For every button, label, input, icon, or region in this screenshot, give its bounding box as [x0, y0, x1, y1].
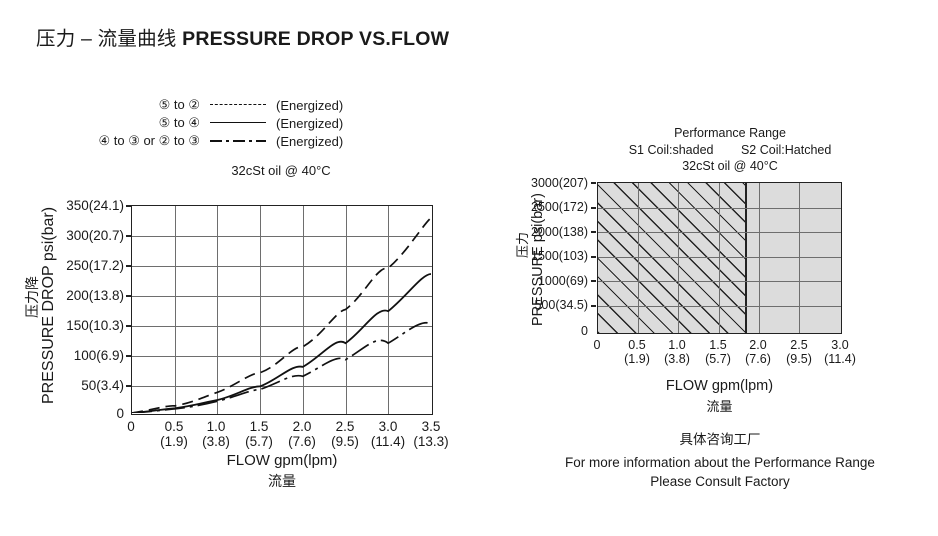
pressure-drop-chart-panel: ⑤ to ② (Energized) ⑤ to ④ (Energized) ④ …	[0, 0, 500, 536]
right-x-axis-title-en: FLOW gpm(lpm)	[666, 378, 773, 394]
x-tick-label: 0.5(1.9)	[624, 338, 650, 366]
x-tick-label: 0	[594, 338, 601, 352]
hatched-region-s2	[598, 183, 745, 333]
x-tick-label: 3.5(13.3)	[413, 419, 448, 449]
right-y-axis-title-en: PRESSURE psi(bar)	[530, 193, 546, 326]
footer-note-cn: 具体咨询工厂	[510, 430, 930, 449]
right-x-axis-title-cn: 流量	[597, 396, 842, 415]
performance-range-heading: Performance Range	[674, 126, 786, 140]
x-tick-label: 2.5(9.5)	[331, 419, 359, 449]
right-plot-area	[597, 182, 842, 334]
x-tick-label: 0.5(1.9)	[160, 419, 188, 449]
y-tick-label: 150(10.3)	[8, 318, 124, 333]
y-tick-label: 3000(207)	[488, 176, 588, 190]
x-tick-label: 3.0(11.4)	[824, 338, 856, 366]
x-tick-label: 2.0(7.6)	[745, 338, 771, 366]
x-tick-label: 0	[127, 419, 135, 434]
left-x-axis-title-en: FLOW gpm(lpm)	[227, 452, 338, 469]
hatched-region-boundary	[745, 183, 747, 333]
x-tick-label: 1.0(3.8)	[202, 419, 230, 449]
left-x-axis-title: FLOW gpm(lpm) 流量	[131, 452, 433, 491]
x-tick-label: 2.5(9.5)	[786, 338, 812, 366]
x-tick-label: 1.5(5.7)	[705, 338, 731, 366]
right-y-axis-title-cn: 压力	[512, 232, 531, 258]
x-tick-label: 1.5(5.7)	[245, 419, 273, 449]
x-tick-label: 3.0(11.4)	[371, 419, 405, 449]
coil-legend: S1 Coil:shaded S2 Coil:Hatched	[560, 142, 900, 159]
y-tick-label: 0	[488, 324, 588, 338]
left-x-axis-title-cn: 流量	[131, 471, 433, 491]
performance-range-footer: 具体咨询工厂 For more information about the Pe…	[510, 430, 930, 491]
performance-range-panel: Performance Range S1 Coil:shaded S2 Coil…	[500, 0, 938, 536]
coil-s2-label: S2 Coil:Hatched	[741, 143, 831, 157]
y-tick-label: 50(3.4)	[8, 378, 124, 393]
performance-range-header: Performance Range S1 Coil:shaded S2 Coil…	[560, 125, 900, 175]
left-y-axis-title-cn: 压力降	[22, 276, 42, 318]
footer-note-en-line1: For more information about the Performan…	[510, 453, 930, 472]
x-tick-label: 1.0(3.8)	[664, 338, 690, 366]
x-tick-label: 2.0(7.6)	[288, 419, 316, 449]
left-y-axis-title-en: PRESSURE DROP psi(bar)	[40, 207, 58, 404]
y-tick-label: 0	[8, 406, 124, 421]
right-chart-condition-label: 32cSt oil @ 40°C	[682, 159, 778, 173]
y-tick-label: 350(24.1)	[8, 198, 124, 213]
y-tick-label: 250(17.2)	[8, 258, 124, 273]
coil-s1-label: S1 Coil:shaded	[629, 143, 714, 157]
y-tick-label: 100(6.9)	[8, 348, 124, 363]
right-x-axis-title: FLOW gpm(lpm) 流量	[597, 378, 842, 415]
footer-note-en-line2: Please Consult Factory	[510, 472, 930, 491]
y-tick-label: 300(20.7)	[8, 228, 124, 243]
